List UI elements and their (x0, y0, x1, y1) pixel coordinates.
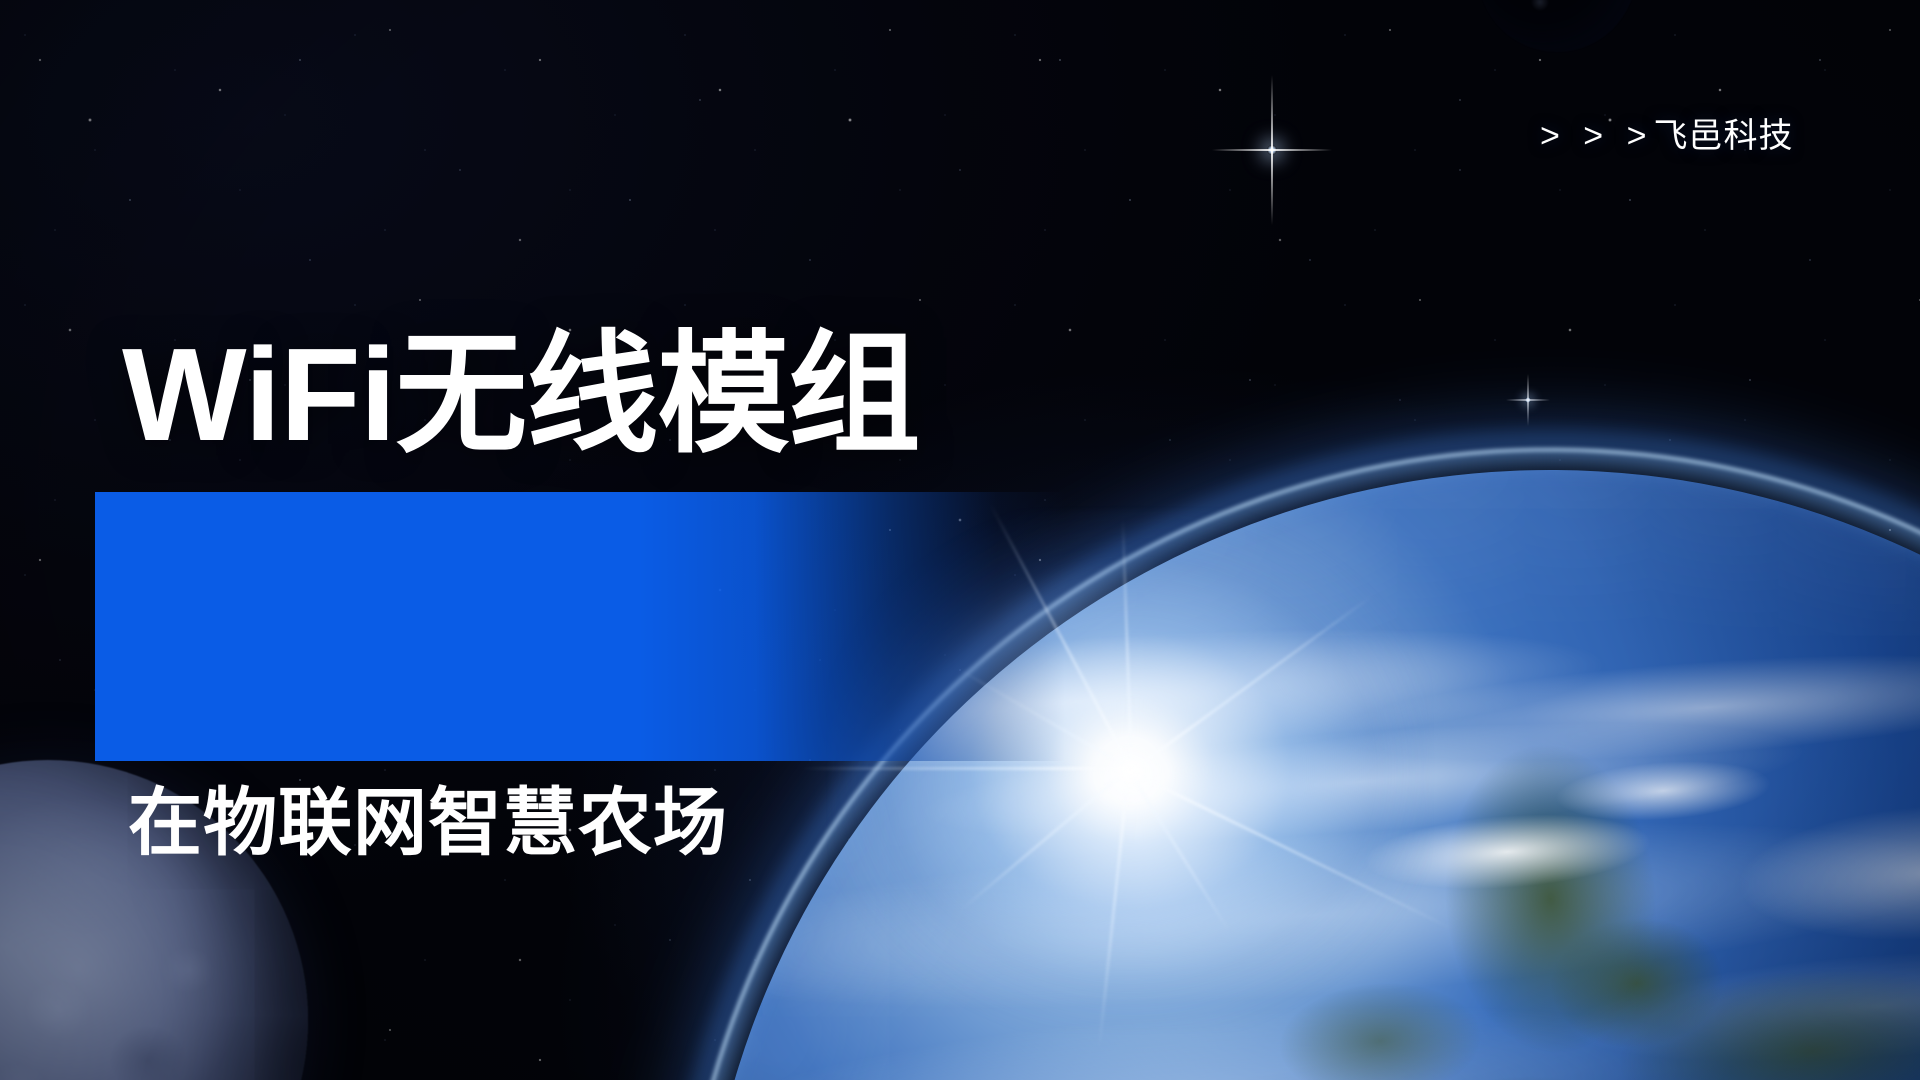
logo-chevrons: > > > (1540, 117, 1653, 155)
page-title: WiFi无线模组 (122, 328, 919, 463)
logo-brand-name: 飞邑科技 (1653, 117, 1793, 155)
subtitle-text: 在物联网智慧农场 应用方案 (128, 504, 728, 1080)
subtitle-line-1: 在物联网智慧农场 (128, 759, 728, 886)
poster-canvas: > > >飞邑科技 WiFi无线模组 在物联网智慧农场 应用方案 (0, 0, 1920, 1080)
brand-logo: > > >飞邑科技 (1540, 108, 1793, 157)
